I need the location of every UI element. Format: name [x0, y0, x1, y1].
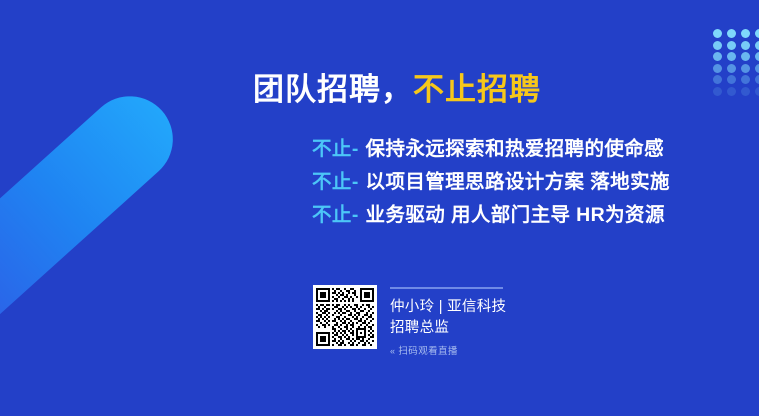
- bullet-text: 业务驱动 用人部门主导 HR为资源: [366, 204, 665, 226]
- bullet-key: 不止: [312, 204, 352, 226]
- recruitment-poster: 团队招聘，不止招聘 不止- 保持永远探索和热爱招聘的使命感 不止- 以项目管理思…: [0, 0, 759, 416]
- speaker-divider: [390, 287, 503, 289]
- bullet-list: 不止- 保持永远探索和热爱招聘的使命感 不止- 以项目管理思路设计方案 落地实施…: [312, 138, 670, 227]
- bullet-text: 以项目管理思路设计方案 落地实施: [366, 171, 670, 193]
- bullet-key: 不止: [312, 171, 352, 193]
- bullet-item: 不止- 保持永远探索和热爱招聘的使命感: [312, 138, 670, 162]
- bullet-key: 不止: [312, 138, 352, 160]
- bullet-item: 不止- 业务驱动 用人部门主导 HR为资源: [312, 204, 670, 228]
- bullet-dash: -: [352, 204, 359, 226]
- qr-code-svg: [316, 288, 374, 346]
- headline-main: 团队招聘，: [253, 72, 413, 107]
- scan-cta-label: 扫码观看直播: [398, 346, 457, 358]
- speaker-block: 仲小玲 | 亚信科技 招聘总监 « 扫码观看直播: [313, 285, 506, 358]
- scan-cta: « 扫码观看直播: [390, 346, 506, 358]
- speaker-title: 招聘总监: [390, 318, 506, 339]
- qr-code-image[interactable]: [313, 285, 377, 349]
- double-chevron-left-icon: «: [390, 346, 395, 358]
- bullet-item: 不止- 以项目管理思路设计方案 落地实施: [312, 171, 670, 195]
- dot-grid-decoration: [713, 28, 759, 96]
- speaker-info: 仲小玲 | 亚信科技 招聘总监 « 扫码观看直播: [390, 285, 506, 358]
- headline-accent: 不止招聘: [413, 72, 541, 107]
- diagonal-bar-decoration: [0, 79, 191, 384]
- poster-headline: 团队招聘，不止招聘: [253, 72, 541, 108]
- bullet-dash: -: [352, 138, 359, 160]
- bullet-dash: -: [352, 171, 359, 193]
- bullet-text: 保持永远探索和热爱招聘的使命感: [366, 138, 665, 160]
- speaker-name: 仲小玲 | 亚信科技: [390, 297, 506, 318]
